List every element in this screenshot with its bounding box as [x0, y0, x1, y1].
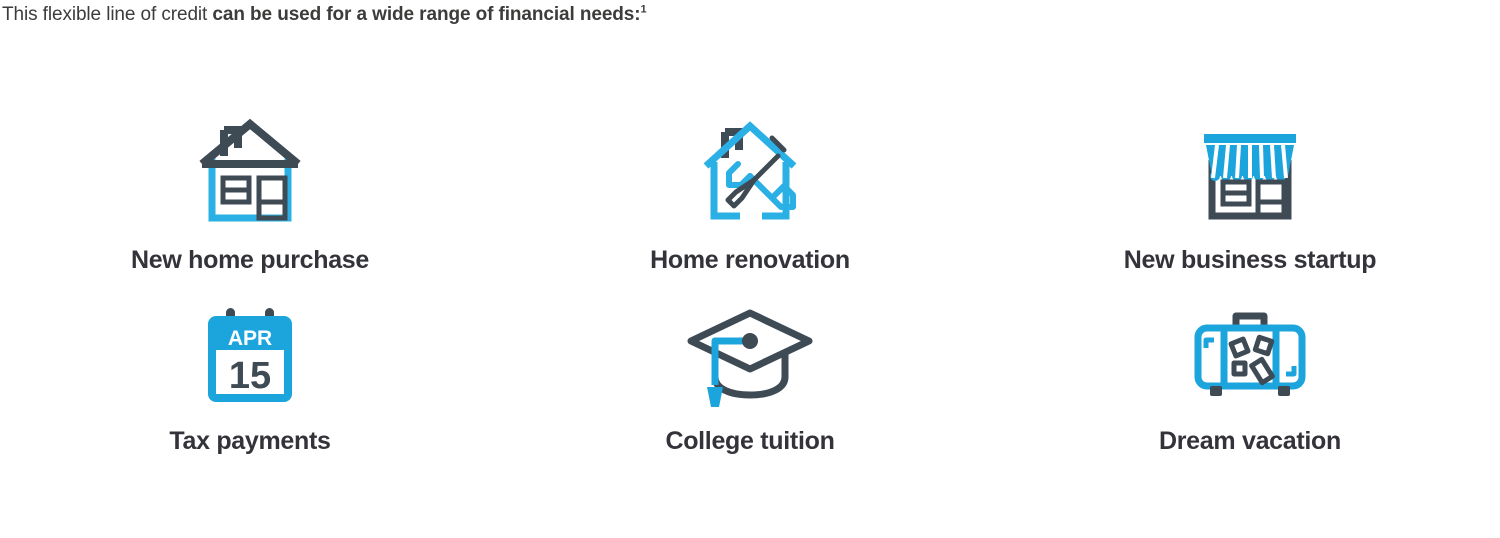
suitcase-icon	[1185, 301, 1315, 411]
calendar-month-text: APR	[228, 327, 272, 350]
calendar-day-text: 15	[229, 355, 271, 397]
intro-headline: This flexible line of credit can be used…	[2, 2, 647, 28]
need-item-new-business-startup[interactable]: New business startup	[1000, 108, 1500, 275]
need-item-label: New home purchase	[131, 246, 369, 275]
house-tools-icon	[685, 108, 815, 228]
need-item-tax-payments[interactable]: APR 15 Tax payments	[0, 301, 500, 456]
need-item-new-home-purchase[interactable]: New home purchase	[0, 108, 500, 275]
need-item-label: College tuition	[665, 427, 834, 456]
need-item-home-renovation[interactable]: Home renovation	[500, 108, 1000, 275]
need-item-dream-vacation[interactable]: Dream vacation	[1000, 301, 1500, 456]
footnote-marker: 1	[641, 4, 647, 16]
house-icon	[185, 108, 315, 228]
need-item-label: Tax payments	[169, 427, 330, 456]
intro-text-regular: This flexible line of credit	[2, 4, 212, 25]
needs-row: APR 15 Tax payments	[0, 301, 1500, 456]
calendar-icon: APR 15	[185, 301, 315, 411]
need-item-label: Home renovation	[650, 246, 850, 275]
need-item-college-tuition[interactable]: College tuition	[500, 301, 1000, 456]
intro-text-bold: can be used for a wide range of financia…	[212, 4, 640, 25]
needs-grid: New home purchase	[0, 108, 1500, 456]
need-item-label: Dream vacation	[1159, 427, 1341, 456]
needs-row: New home purchase	[0, 108, 1500, 275]
storefront-icon	[1185, 108, 1315, 228]
graduation-cap-icon	[685, 301, 815, 411]
need-item-label: New business startup	[1124, 246, 1376, 275]
